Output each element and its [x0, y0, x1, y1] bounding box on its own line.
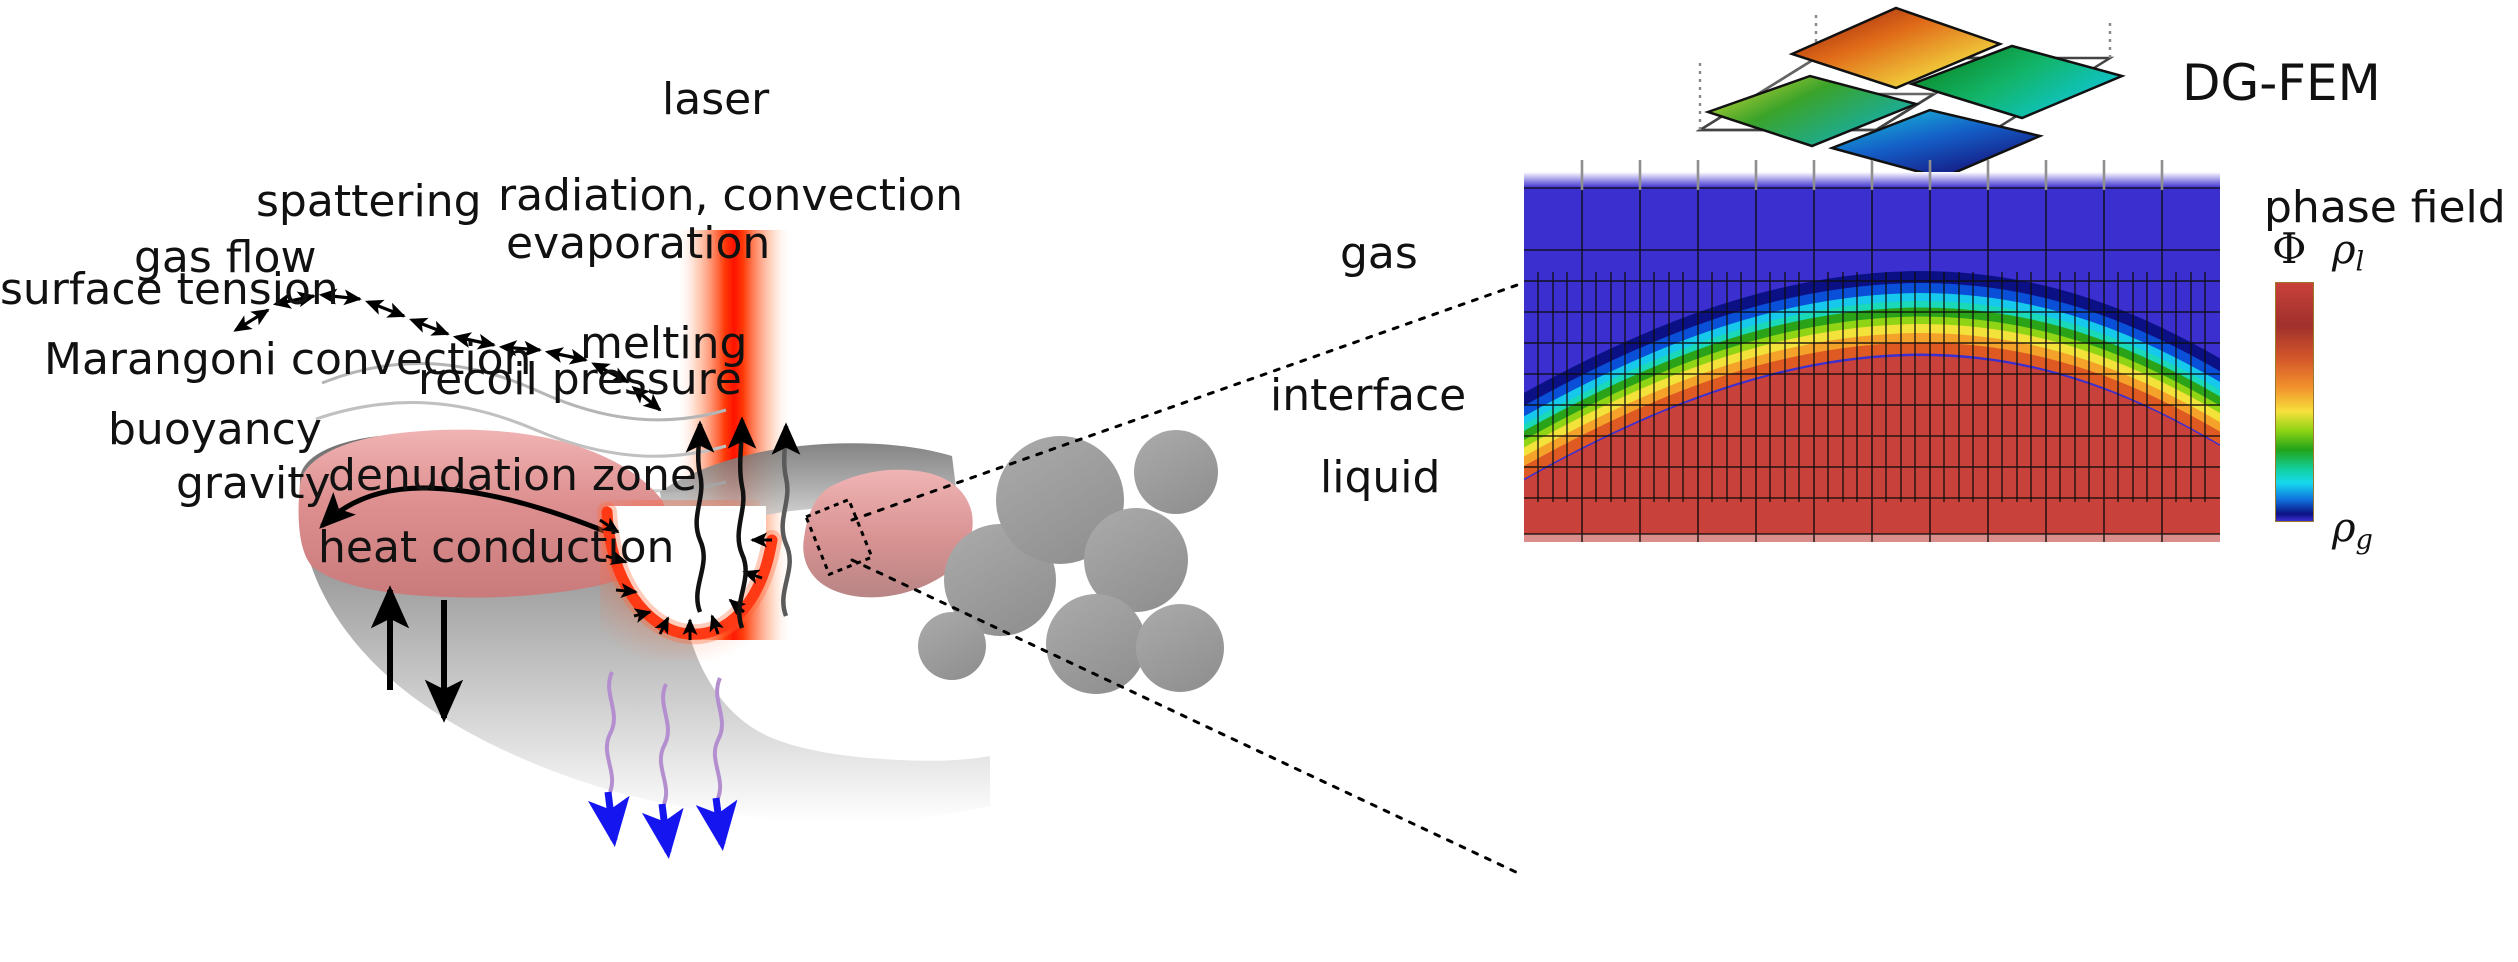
colorbar-max-sub: l [2356, 247, 2365, 278]
label-liquid: liquid [1320, 456, 1440, 500]
colorbar-max-rho: ρ [2332, 227, 2356, 273]
figure-root: laser spattering gas flow surface tensio… [0, 0, 2518, 962]
colorbar-gradient [2275, 282, 2314, 522]
label-gas: gas [1340, 232, 1418, 276]
colorbar-min-label: ρg [2332, 508, 2373, 554]
colorbar-min-rho: ρ [2332, 505, 2356, 551]
mesh-top-stubs [0, 0, 2518, 962]
colorbar-max-label: ρl [2332, 230, 2364, 276]
colorbar-symbol: Φ [2272, 228, 2306, 270]
colorbar-min-sub: g [2356, 525, 2373, 556]
label-interface: interface [1270, 374, 1466, 418]
